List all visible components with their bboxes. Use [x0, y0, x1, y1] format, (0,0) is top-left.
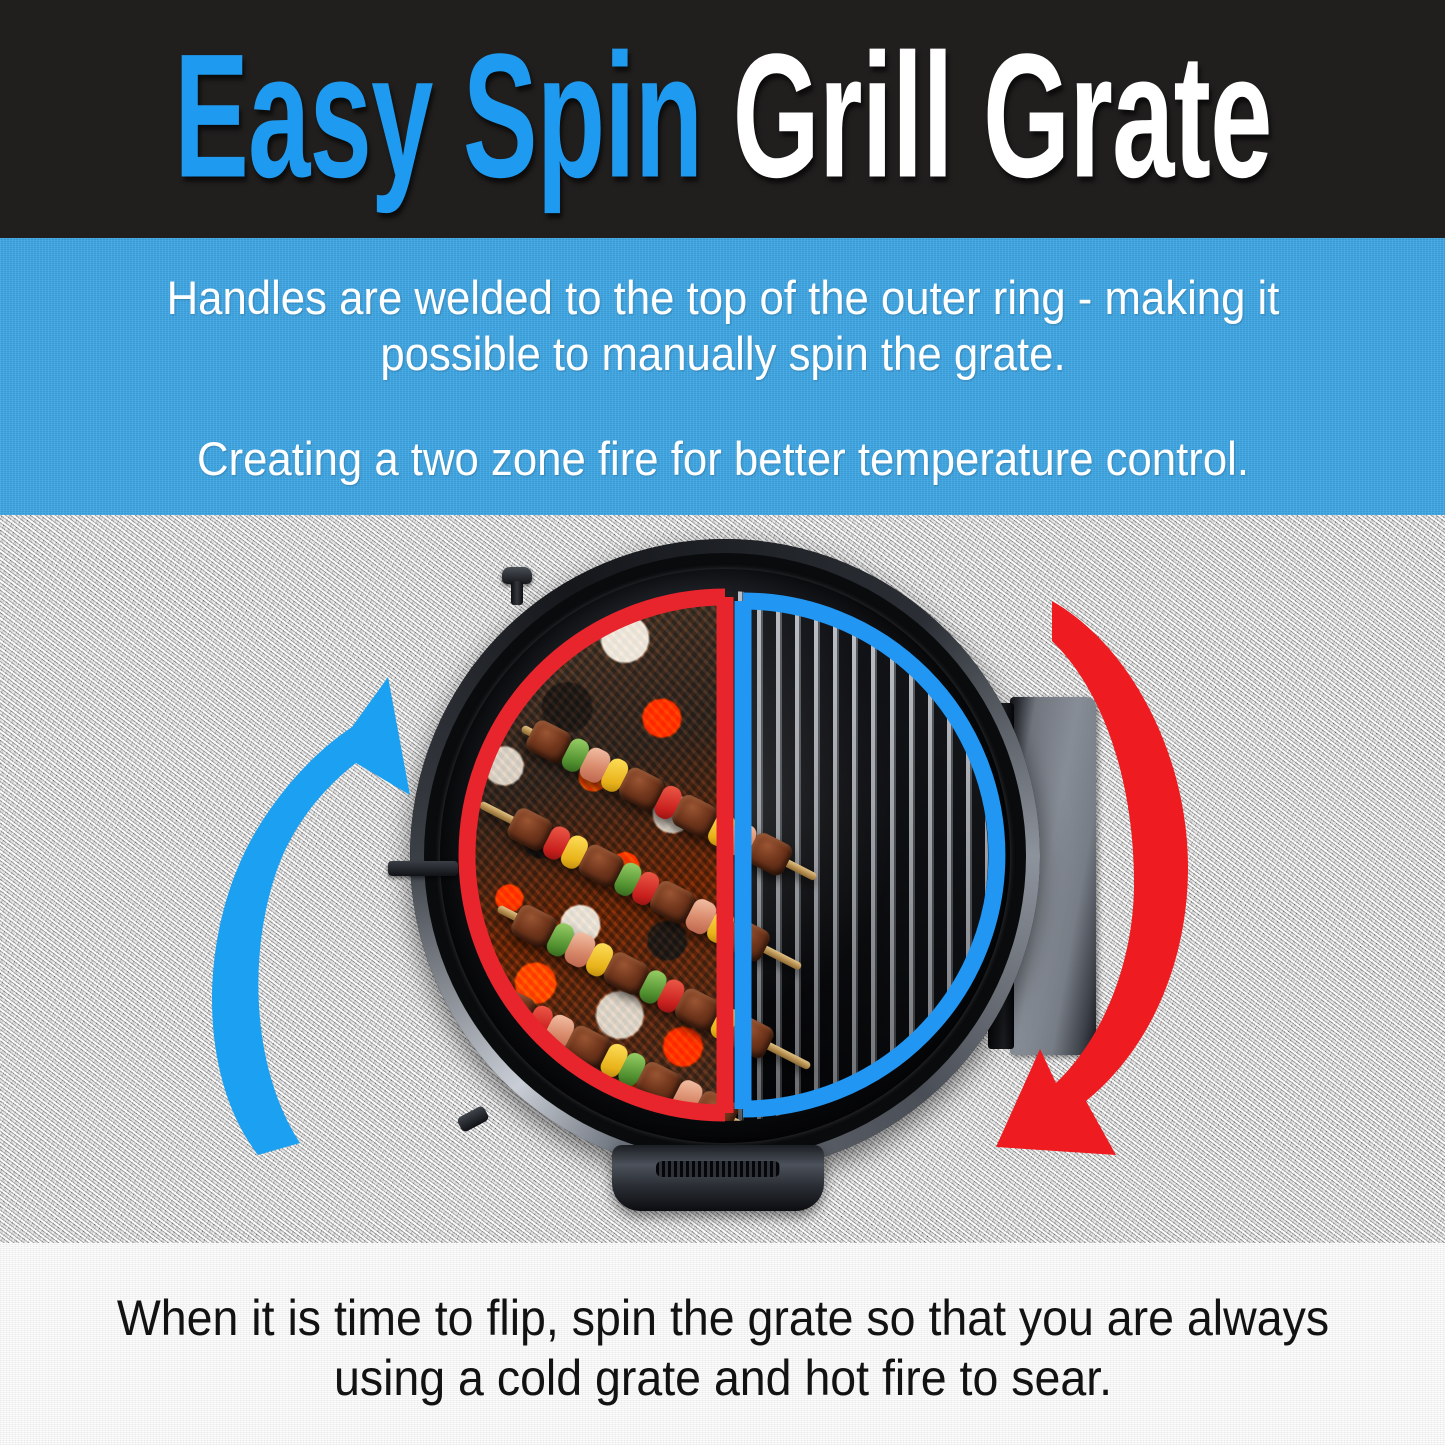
bottom-caption-line-1: When it is time to flip, spin the grate … [104, 1288, 1341, 1348]
title-part-white: Grill Grate [732, 16, 1271, 214]
bottom-caption: When it is time to flip, spin the grate … [104, 1288, 1341, 1408]
bottom-caption-line-2: using a cold grate and hot fire to sear. [104, 1348, 1341, 1408]
product-photo [0, 515, 1445, 1243]
title-part-blue: Easy Spin [174, 16, 702, 214]
hot-zone-outline [467, 597, 725, 1113]
page-title: Easy Spin Grill Grate [174, 28, 1271, 204]
subtitle-band: Handles are welded to the top of the out… [0, 238, 1445, 515]
infographic-poster: Easy Spin Grill Grate Handles are welded… [0, 0, 1445, 1445]
subtitle-paragraph-2: Creating a two zone fire for better temp… [123, 431, 1323, 487]
subtitle-paragraph-1: Handles are welded to the top of the out… [123, 270, 1323, 383]
cook-zone-outline [743, 601, 997, 1109]
title-banner: Easy Spin Grill Grate [0, 0, 1445, 238]
bottom-caption-band: When it is time to flip, spin the grate … [0, 1243, 1445, 1445]
zone-outlines [362, 539, 1062, 1229]
kettle-grill [362, 539, 1062, 1229]
